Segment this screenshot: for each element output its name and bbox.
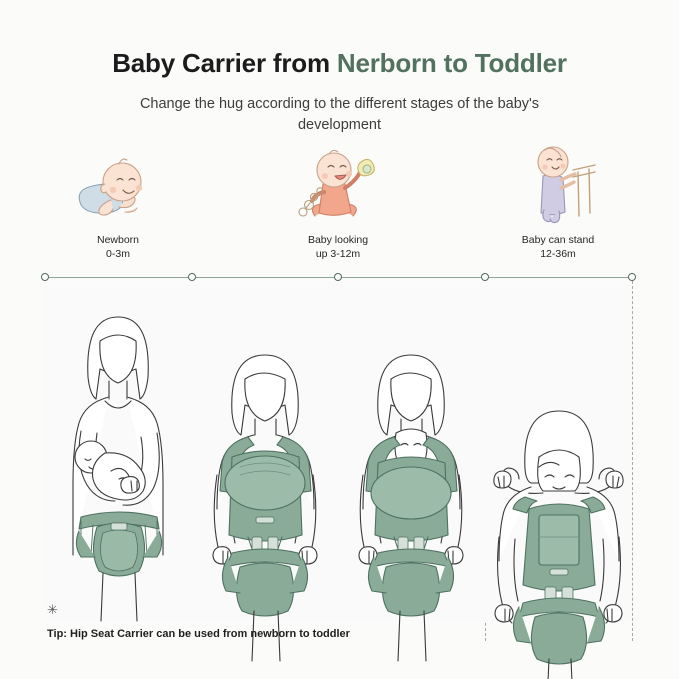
page-title-plain: Baby Carrier from — [112, 48, 337, 78]
stage-item-newborn: Newborn 0-3m — [38, 148, 198, 262]
newborn-panel: Newborn: Feeding — [45, 281, 192, 621]
mother-back-carry-toddler — [485, 397, 632, 679]
timeline-node-icon — [628, 273, 636, 281]
stage-item-baby-standing: Baby can stand 12-36m — [478, 148, 638, 262]
infant-panel: Infant: Front/Outward Carry — [192, 281, 485, 621]
timeline-node-icon — [41, 273, 49, 281]
stage-label-newborn: Newborn 0-3m — [38, 226, 198, 262]
toddler-panel: Toddler: Back Carry — [485, 281, 632, 621]
baby-sitting-with-toy-icon — [258, 148, 418, 226]
tip-text: Tip: Hip Seat Carrier can be used from n… — [47, 616, 477, 640]
page-title-accent: Nerborn to Toddler — [337, 48, 567, 78]
page-subtitle: Change the hug according to the differen… — [105, 78, 575, 136]
stage-row: Newborn 0-3m — [0, 148, 679, 266]
stage-item-baby-looking: Baby looking up 3-12m — [258, 148, 418, 262]
infographic-root: Baby Carrier from Nerborn to Toddler Cha… — [0, 0, 679, 679]
timeline-node-icon — [481, 273, 489, 281]
mother-holding-newborn-in-hip-seat — [45, 281, 192, 621]
baby-standing-icon — [478, 148, 638, 226]
stage-label-baby-looking: Baby looking up 3-12m — [258, 226, 418, 262]
tip-block: ✳ Tip: Hip Seat Carrier can be used from… — [47, 603, 477, 640]
timeline-node-icon — [334, 273, 342, 281]
page-title: Baby Carrier from Nerborn to Toddler — [0, 0, 679, 78]
header: Baby Carrier from Nerborn to Toddler Cha… — [0, 0, 679, 136]
asterisk-icon: ✳ — [47, 603, 477, 616]
stage-label-baby-standing: Baby can stand 12-36m — [478, 226, 638, 262]
timeline-divider — [632, 281, 633, 641]
baby-lying-on-tummy-icon — [38, 148, 198, 226]
timeline-node-icon — [188, 273, 196, 281]
